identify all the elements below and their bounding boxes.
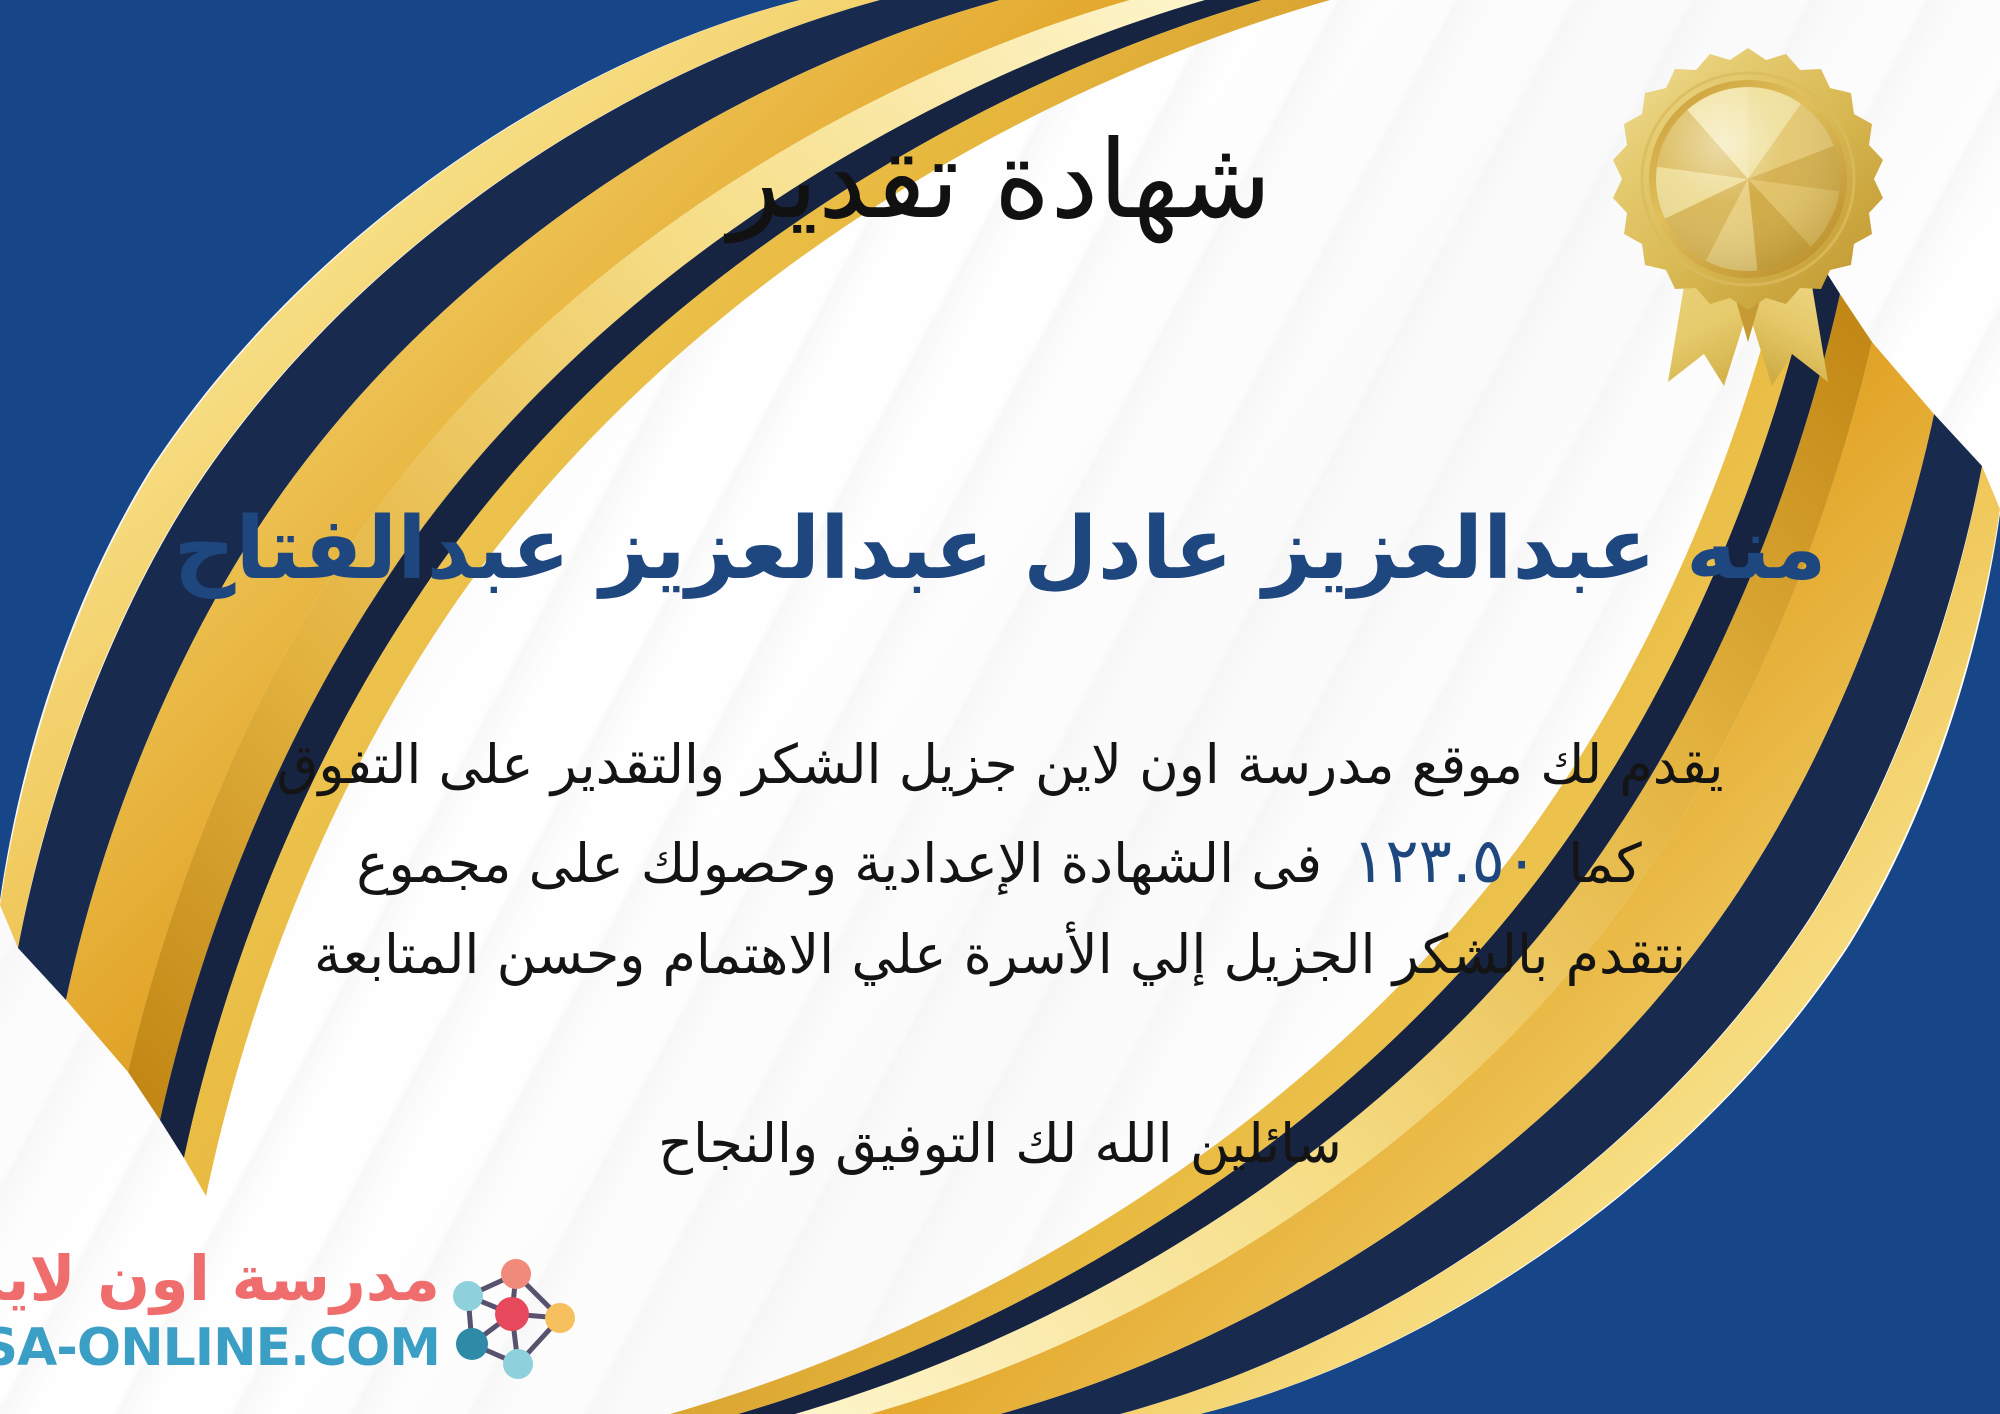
closing-blessing-line: سائلين الله لك التوفيق والنجاح bbox=[0, 1112, 2000, 1175]
brand-website-url[interactable]: MADRSA-ONLINE.COM bbox=[0, 1318, 440, 1378]
certificate-title: شهادة تقدير bbox=[0, 118, 2000, 243]
grade-sentence-prefix: فى الشهادة الإعدادية وحصولك على مجموع bbox=[312, 827, 1322, 902]
brand-arabic-name: مدرسة اون لاين bbox=[0, 1242, 440, 1315]
grade-sentence-suffix: كما bbox=[1568, 827, 1687, 902]
node-light-blue-2 bbox=[503, 1349, 533, 1379]
node-teal bbox=[456, 1328, 488, 1360]
certificate-content: شهادة تقدير منه عبدالعزيز عادل عبدالعزيز… bbox=[0, 0, 2000, 1414]
body-text-line-1: يقدم لك موقع مدرسة اون لاين جزيل الشكر و… bbox=[0, 728, 2000, 803]
node-coral bbox=[501, 1259, 531, 1289]
network-nodes-icon bbox=[446, 1252, 584, 1384]
grade-total-value: ١٢٣.٥٠ bbox=[1322, 818, 1568, 904]
node-red bbox=[495, 1297, 529, 1331]
body-text-line-3: نتقدم بالشكر الجزيل إلي الأسرة علي الاهت… bbox=[0, 918, 2000, 993]
body-text-line-2: فى الشهادة الإعدادية وحصولك على مجموع ١٢… bbox=[0, 818, 2000, 904]
node-amber bbox=[545, 1303, 575, 1333]
certificate-page: شهادة تقدير منه عبدالعزيز عادل عبدالعزيز… bbox=[0, 0, 2000, 1414]
node-light-blue bbox=[453, 1281, 483, 1311]
brand-logo[interactable]: مدرسة اون لاين MADRSA-ONLINE.COM bbox=[30, 1236, 590, 1396]
grade-sentence-row: فى الشهادة الإعدادية وحصولك على مجموع ١٢… bbox=[0, 818, 2000, 904]
recipient-name: منه عبدالعزيز عادل عبدالعزيز عبدالفتاح bbox=[0, 498, 2000, 601]
